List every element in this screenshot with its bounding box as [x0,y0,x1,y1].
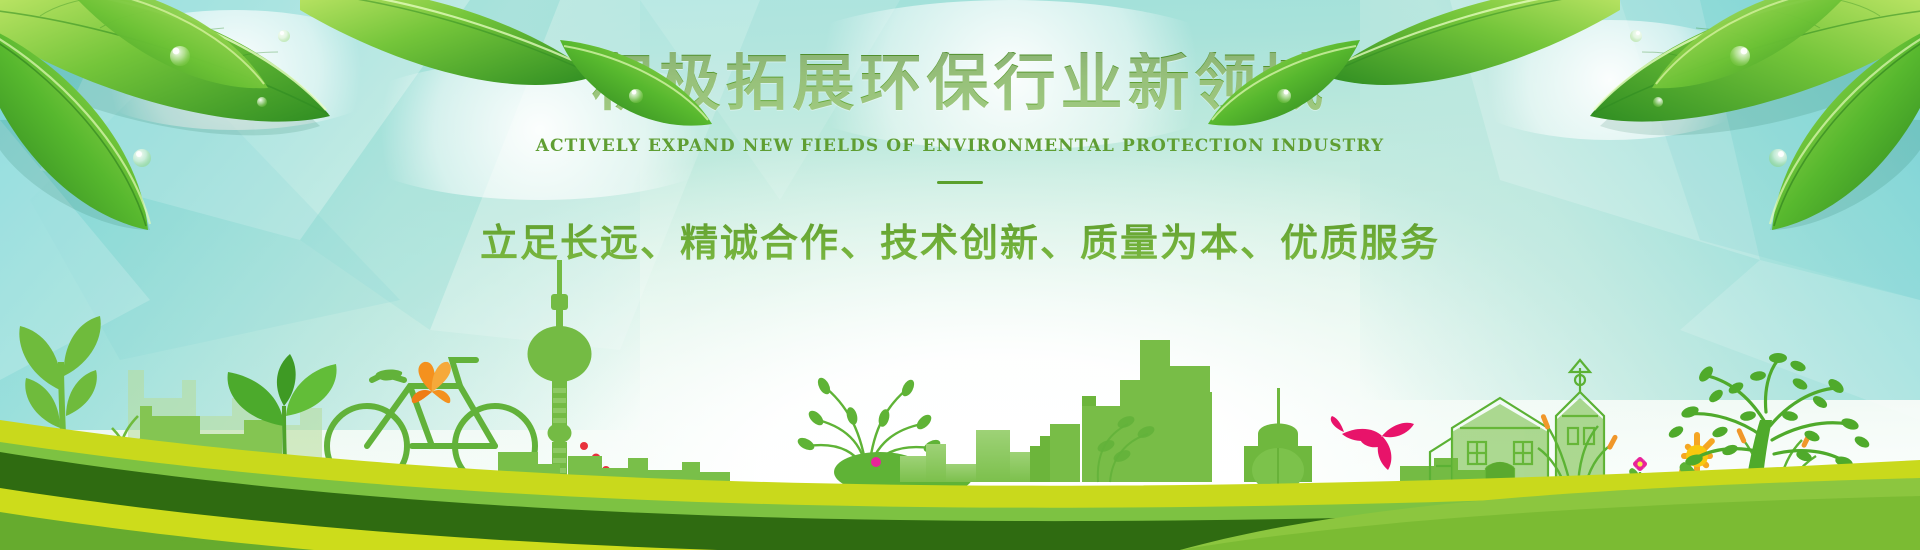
page-subtitle: ACTIVELY EXPAND NEW FIELDS OF ENVIRONMEN… [0,136,1920,156]
page-title: 积极拓展环保行业新领域 [0,52,1920,114]
divider-line [937,181,983,184]
domed-tower [1244,388,1312,492]
city-towers-right [1050,340,1212,482]
house-fill [1452,398,1604,482]
hummingbird-icon [1331,416,1414,470]
butterfly-icon [412,362,451,403]
eco-banner: 积极拓展环保行业新领域 ACTIVELY EXPAND NEW FIELDS O… [0,0,1920,550]
leaf-buds [796,376,943,455]
banner-copy: 积极拓展环保行业新领域 ACTIVELY EXPAND NEW FIELDS O… [0,52,1920,267]
eco-scene [0,220,1920,550]
divider [0,181,1920,184]
scene-illustration [0,220,1920,550]
tagline: 立足长远、精诚合作、技术创新、质量为本、优质服务 [0,212,1920,267]
